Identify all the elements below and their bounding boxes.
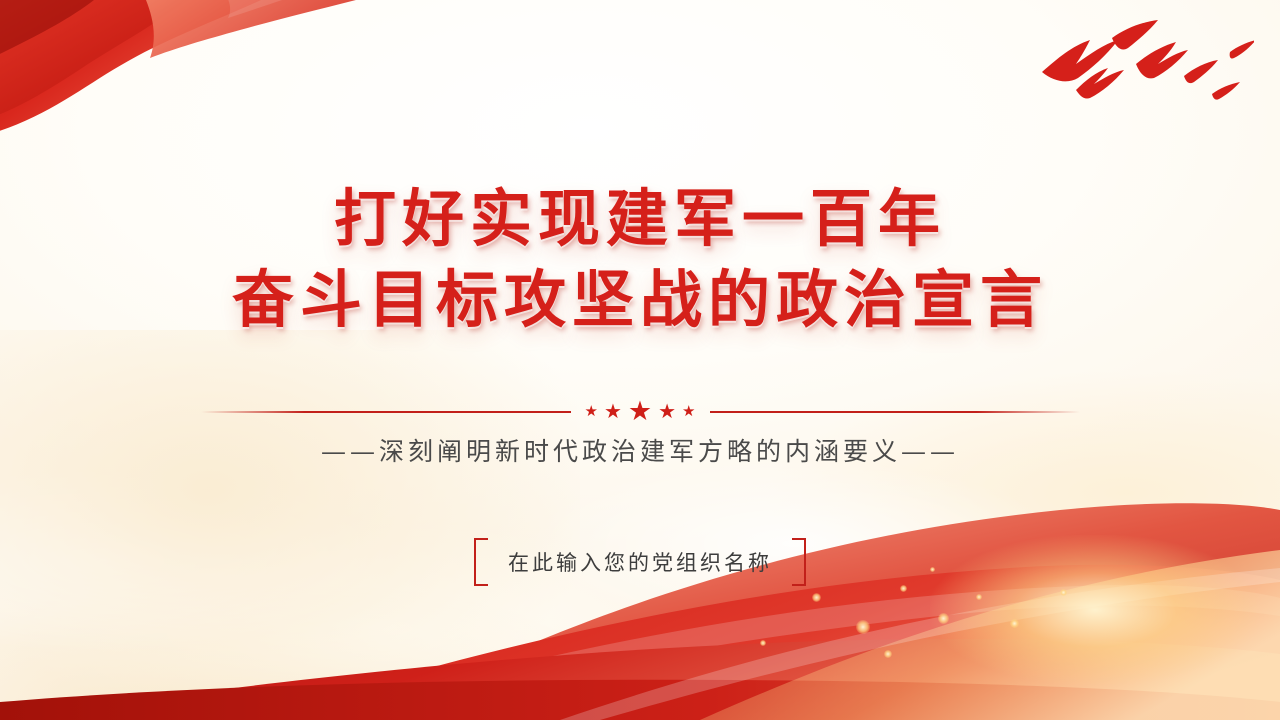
doves-svg — [1034, 18, 1254, 128]
star-icon-4: ★ — [658, 402, 676, 422]
organization-name-field[interactable]: 在此输入您的党组织名称 — [474, 538, 806, 586]
star-icon-5: ★ — [682, 404, 695, 419]
title-line-2: 奋斗目标攻坚战的政治宣言 — [0, 263, 1280, 336]
decorative-divider: ★ ★ ★ ★ ★ — [0, 398, 1280, 425]
divider-rule-left — [201, 411, 571, 413]
flag-svg — [0, 0, 430, 176]
star-group: ★ ★ ★ ★ ★ — [585, 398, 696, 425]
star-icon-2: ★ — [604, 402, 622, 422]
divider-rule-right — [710, 411, 1080, 413]
star-icon-3: ★ — [628, 398, 652, 425]
page-title: 打好实现建军一百年 奋斗目标攻坚战的政治宣言 — [0, 182, 1280, 336]
page-subtitle: ——深刻阐明新时代政治建军方略的内涵要义—— — [0, 432, 1280, 468]
title-line-1: 打好实现建军一百年 — [0, 182, 1280, 255]
flying-doves-icon — [1034, 18, 1254, 133]
star-icon-1: ★ — [585, 404, 598, 419]
red-flag-icon — [0, 0, 430, 181]
presentation-slide: 打好实现建军一百年 奋斗目标攻坚战的政治宣言 ★ ★ ★ ★ ★ ——深刻阐明新… — [0, 0, 1280, 720]
